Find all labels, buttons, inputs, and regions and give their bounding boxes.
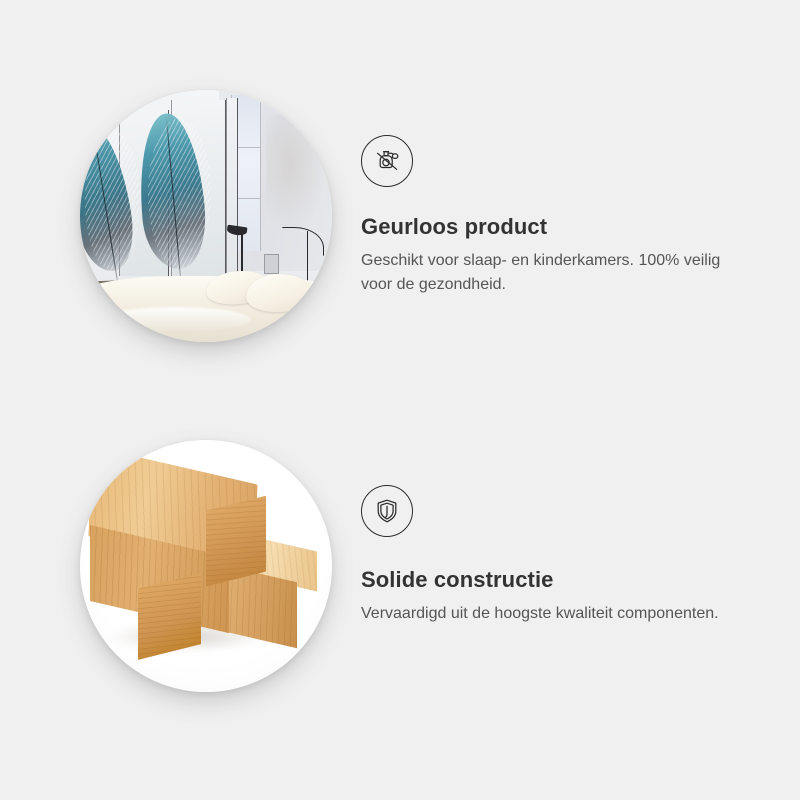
page-title: Solide constructie [361,567,761,593]
product-feature-page: Geurloos product Geschikt voor slaap- en… [0,0,800,800]
feature-image-wrapper [80,90,332,342]
nightstand-frame [264,254,279,274]
lamp-stem-left [241,231,243,276]
feather-right-barbs [148,118,211,269]
beam-main-end-grain [206,495,266,586]
duvet-fold [100,307,251,332]
no-fragrance-icon [361,135,413,187]
feature-description: Vervaardigd uit de hoogste kwaliteit com… [361,602,753,626]
wall-texture [266,115,326,236]
feature-text-column: Solide constructie Vervaardigd uit de ho… [361,440,761,626]
lamp-stem-right [307,231,309,286]
feature-description: Geschikt voor slaap- en kinderkamers. 10… [361,249,753,297]
shield-icon [361,485,413,537]
wood-scene [80,440,332,692]
wooden-beams-photo [80,440,332,692]
feature-image-wrapper [80,440,332,692]
bedroom-feather-wall-art-photo [80,90,332,342]
bedroom-scene [80,90,332,342]
page-title: Geurloos product [361,214,761,240]
art-panel-right [227,98,237,274]
feature-text-column: Geurloos product Geschikt voor slaap- en… [361,90,761,297]
